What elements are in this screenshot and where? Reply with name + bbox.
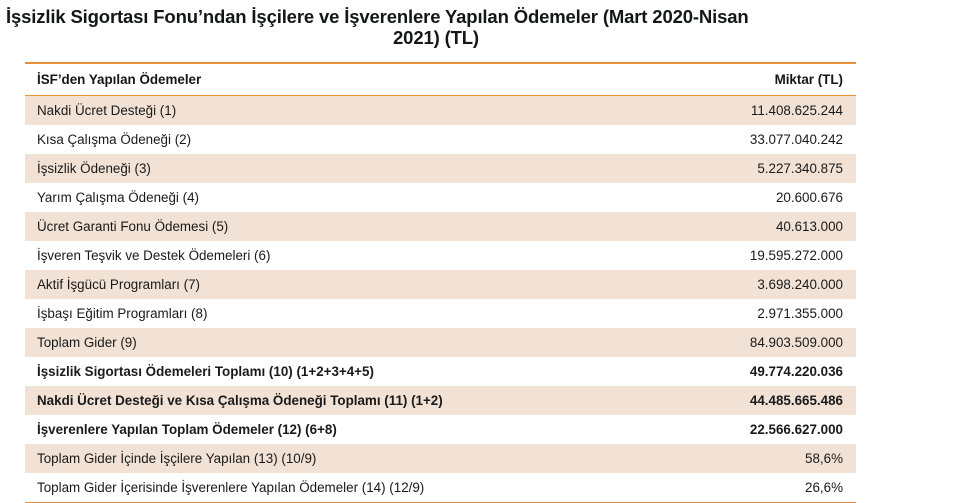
cell-amount: 19.595.272.000: [645, 241, 856, 270]
table-body: Nakdi Ücret Desteği (1)11.408.625.244Kıs…: [25, 96, 856, 503]
table-row: Toplam Gider İçerisinde İşverenlere Yapı…: [25, 473, 856, 502]
table-row: İşsizlik Sigortası Ödemeleri Toplamı (10…: [25, 357, 856, 386]
cell-amount: 26,6%: [645, 473, 856, 502]
table-row: Toplam Gider İçinde İşçilere Yapılan (13…: [25, 444, 856, 473]
cell-amount: 3.698.240.000: [645, 270, 856, 299]
cell-amount: 58,6%: [645, 444, 856, 473]
cell-payment-type: Yarım Çalışma Ödeneği (4): [25, 183, 645, 212]
cell-amount: 20.600.676: [645, 183, 856, 212]
cell-amount: 33.077.040.242: [645, 125, 856, 154]
cell-amount: 11.408.625.244: [645, 96, 856, 126]
table-row: Ücret Garanti Fonu Ödemesi (5)40.613.000: [25, 212, 856, 241]
cell-payment-type: Aktif İşgücü Programları (7): [25, 270, 645, 299]
cell-amount: 22.566.627.000: [645, 415, 856, 444]
cell-payment-type: Nakdi Ücret Desteği ve Kısa Çalışma Öden…: [25, 386, 645, 415]
table-row: İşverenlere Yapılan Toplam Ödemeler (12)…: [25, 415, 856, 444]
cell-payment-type: Nakdi Ücret Desteği (1): [25, 96, 645, 126]
payments-table: İSF’den Yapılan Ödemeler Miktar (TL) Nak…: [25, 62, 856, 502]
column-header-payment-type: İSF’den Yapılan Ödemeler: [25, 63, 645, 96]
cell-amount: 5.227.340.875: [645, 154, 856, 183]
cell-payment-type: İşsizlik Sigortası Ödemeleri Toplamı (10…: [25, 357, 645, 386]
cell-amount: 40.613.000: [645, 212, 856, 241]
table-row: İşveren Teşvik ve Destek Ödemeleri (6)19…: [25, 241, 856, 270]
table-row: Aktif İşgücü Programları (7)3.698.240.00…: [25, 270, 856, 299]
table-row: Toplam Gider (9)84.903.509.000: [25, 328, 856, 357]
column-header-amount: Miktar (TL): [645, 63, 856, 96]
cell-payment-type: İşverenlere Yapılan Toplam Ödemeler (12)…: [25, 415, 645, 444]
cell-payment-type: Toplam Gider (9): [25, 328, 645, 357]
cell-payment-type: Ücret Garanti Fonu Ödemesi (5): [25, 212, 645, 241]
page-title: İşsizlik Sigortası Fonu’ndan İşçilere ve…: [0, 0, 972, 48]
payments-table-container: İSF’den Yapılan Ödemeler Miktar (TL) Nak…: [25, 62, 856, 503]
table-row: Nakdi Ücret Desteği (1)11.408.625.244: [25, 96, 856, 126]
cell-amount: 49.774.220.036: [645, 357, 856, 386]
cell-payment-type: İşsizlik Ödeneği (3): [25, 154, 645, 183]
table-row: İşbaşı Eğitim Programları (8)2.971.355.0…: [25, 299, 856, 328]
cell-payment-type: Toplam Gider İçerisinde İşverenlere Yapı…: [25, 473, 645, 502]
page-title-line-2: 2021) (TL): [0, 27, 968, 48]
document-page: İşsizlik Sigortası Fonu’ndan İşçilere ve…: [0, 0, 972, 491]
table-row: Kısa Çalışma Ödeneği (2)33.077.040.242: [25, 125, 856, 154]
cell-payment-type: İşbaşı Eğitim Programları (8): [25, 299, 645, 328]
table-row: Yarım Çalışma Ödeneği (4)20.600.676: [25, 183, 856, 212]
cell-amount: 44.485.665.486: [645, 386, 856, 415]
table-header-row: İSF’den Yapılan Ödemeler Miktar (TL): [25, 63, 856, 96]
cell-payment-type: Toplam Gider İçinde İşçilere Yapılan (13…: [25, 444, 645, 473]
cell-payment-type: İşveren Teşvik ve Destek Ödemeleri (6): [25, 241, 645, 270]
page-title-line-1: İşsizlik Sigortası Fonu’ndan İşçilere ve…: [6, 6, 968, 27]
cell-amount: 84.903.509.000: [645, 328, 856, 357]
cell-amount: 2.971.355.000: [645, 299, 856, 328]
table-header: İSF’den Yapılan Ödemeler Miktar (TL): [25, 63, 856, 96]
cell-payment-type: Kısa Çalışma Ödeneği (2): [25, 125, 645, 154]
table-row: İşsizlik Ödeneği (3)5.227.340.875: [25, 154, 856, 183]
table-row: Nakdi Ücret Desteği ve Kısa Çalışma Öden…: [25, 386, 856, 415]
